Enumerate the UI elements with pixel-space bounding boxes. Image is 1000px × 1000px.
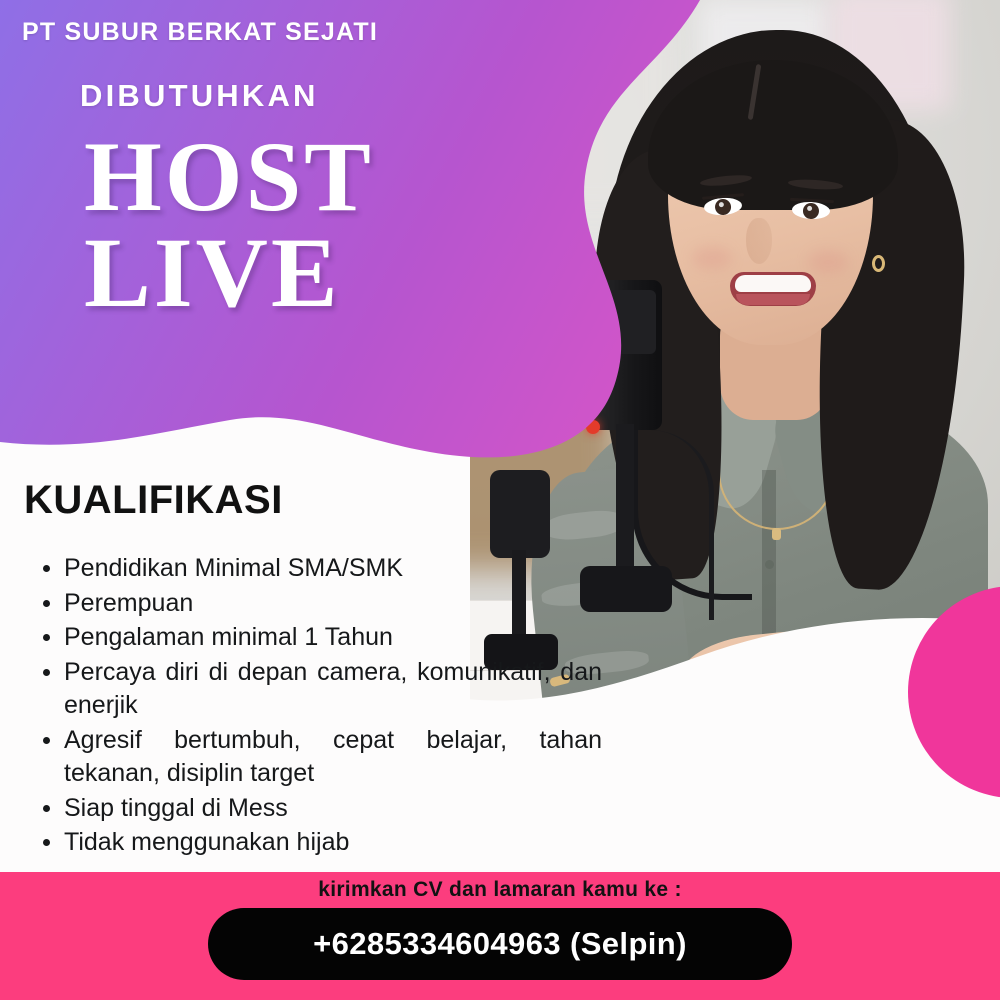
- teeth: [735, 275, 811, 292]
- necklace-pendant: [772, 528, 781, 540]
- job-poster: PT SUBUR BERKAT SEJATI DIBUTUHKAN HOST L…: [0, 0, 1000, 1000]
- cheek-blush: [692, 246, 732, 270]
- sleeve-fold: [543, 508, 625, 542]
- hiring-eyebrow: DIBUTUHKAN: [80, 78, 319, 114]
- qualification-item: Pendidikan Minimal SMA/SMK: [42, 552, 602, 586]
- qualification-item: Tidak menggunakan hijab: [42, 826, 602, 860]
- phone-number: +6285334604963 (Selpin): [313, 926, 687, 962]
- microphone-stem: [616, 424, 634, 574]
- qualification-item: Agresif bertumbuh, cepat belajar, tahan …: [42, 724, 602, 791]
- qualifications-list: Pendidikan Minimal SMA/SMK Perempuan Pen…: [42, 552, 602, 861]
- iris: [714, 198, 731, 215]
- iris: [803, 203, 820, 220]
- company-name: PT SUBUR BERKAT SEJATI: [22, 18, 378, 47]
- qualification-item: Siap tinggal di Mess: [42, 792, 602, 826]
- nose: [746, 218, 772, 264]
- earring: [872, 255, 885, 272]
- qualification-item: Perempuan: [42, 587, 602, 621]
- qualification-item: Pengalaman minimal 1 Tahun: [42, 621, 602, 655]
- qualification-item: Percaya diri di depan camera, komunikati…: [42, 656, 602, 723]
- job-title-line1: HOST: [84, 128, 374, 226]
- contact-footer: kirimkan CV dan lamaran kamu ke : +62853…: [0, 872, 1000, 1000]
- qualifications-heading: KUALIFIKASI: [24, 478, 283, 523]
- cta-text: kirimkan CV dan lamaran kamu ke :: [0, 878, 1000, 902]
- phone-button[interactable]: +6285334604963 (Selpin): [208, 908, 792, 980]
- cheek-blush: [808, 250, 848, 274]
- camera-head: [490, 470, 550, 558]
- job-title-line2: LIVE: [84, 224, 341, 322]
- shirt-button: [765, 560, 774, 569]
